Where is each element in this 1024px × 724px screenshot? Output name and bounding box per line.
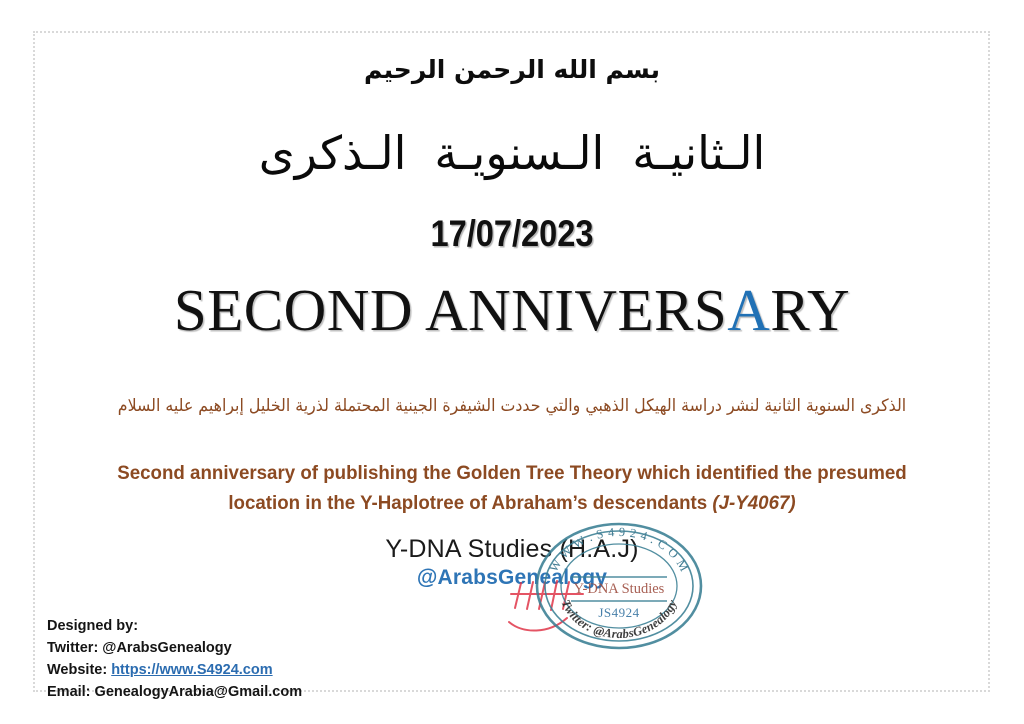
english-caption-line-1: Second anniversary of publishing the Gol… [117,462,906,484]
headline-title: SECOND ANNIVERSARY [0,276,1024,345]
basmala-text: بسم الله الرحمن الرحيم [0,55,1024,84]
headline-accent-letter: A [727,277,770,343]
stamp-center-code: JS4924 [598,605,639,620]
arabic-title-word-3: الـذكرى [259,126,407,180]
haplogroup-label: (J-Y4067) [712,492,795,514]
anniversary-date: 17/07/2023 [61,213,962,255]
headline-part-2: RY [770,277,850,343]
signature-block: Y-DNA Studies (H.A.J) @ArabsGenealogy [0,535,1024,590]
signature-handle: @ArabsGenealogy [0,566,1024,590]
arabic-caption: الذكرى السنوية الثانية لنشر دراسة الهيكل… [36,396,988,416]
poster-canvas: بسم الله الرحمن الرحيم الـثانيـةالـسنويـ… [0,0,1024,724]
arabic-title-word-1: الـثانيـة [632,126,765,180]
credits-block: Designed by: Twitter: @ArabsGenealogy We… [47,615,302,703]
credits-designed-by: Designed by: [47,615,302,637]
credits-email: Email: GenealogyArabia@Gmail.com [47,681,302,703]
signature-name: Y-DNA Studies (H.A.J) [0,535,1024,564]
stamp-bottom-arc-text: Twitter: @ArabsGenealogy [559,597,680,641]
arabic-title: الـثانيـةالـسنويـةالـذكرى [0,126,1024,180]
credits-website-link[interactable]: https://www.S4924.com [111,662,272,678]
credits-website: Website: https://www.S4924.com [47,659,302,681]
arabic-title-word-2: الـسنويـة [434,126,604,180]
credits-website-label: Website: [47,662,111,678]
credits-twitter: Twitter: @ArabsGenealogy [47,637,302,659]
english-caption: Second anniversary of publishing the Gol… [97,458,926,518]
english-caption-line-2: location in the Y-Haplotree of Abraham’s… [228,492,712,514]
headline-part-1: SECOND ANNIVERS [174,277,727,343]
